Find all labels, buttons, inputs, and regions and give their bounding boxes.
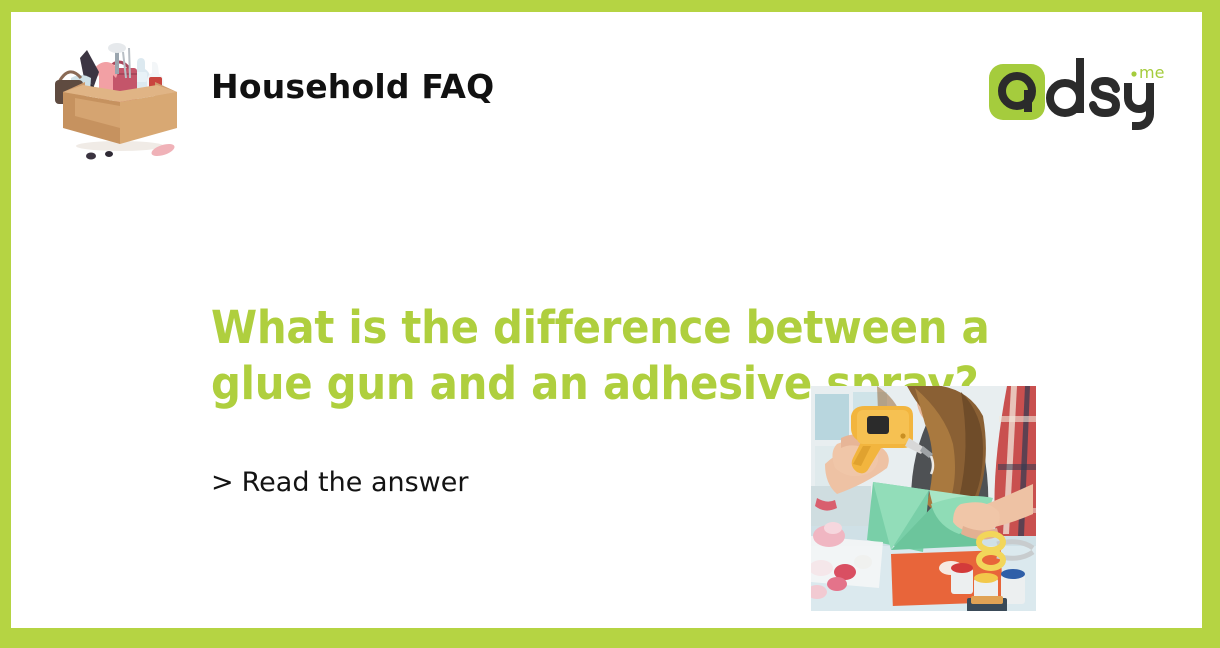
faq-card: Household FAQ me bbox=[0, 0, 1220, 648]
household-box-icon bbox=[49, 30, 191, 162]
card-canvas: Household FAQ me bbox=[11, 12, 1202, 628]
read-answer-link[interactable]: >Read the answer bbox=[211, 467, 468, 498]
card-header: Household FAQ me bbox=[11, 12, 1202, 172]
adsy-logo[interactable]: me bbox=[989, 50, 1164, 132]
read-answer-label: Read the answer bbox=[242, 467, 469, 498]
chevron-right-icon: > bbox=[211, 467, 234, 498]
svg-text:me: me bbox=[1139, 63, 1164, 82]
page-title: Household FAQ bbox=[211, 67, 494, 106]
glue-gun-craft-photo bbox=[811, 386, 1036, 611]
